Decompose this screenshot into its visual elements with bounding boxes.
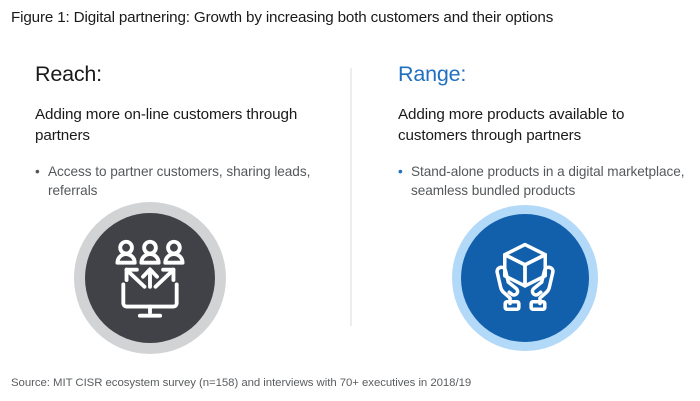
column-reach-bullet-text: Access to partner customers, sharing lea… [48,164,310,198]
range-icon-badge [452,205,598,351]
column-range-bullet: • Stand-alone products in a digital mark… [398,162,690,200]
bullet-marker-icon: • [398,162,403,181]
column-divider [350,68,352,326]
column-range: Range: Adding more products available to… [398,60,690,200]
column-reach: Reach: Adding more on-line customers thr… [35,60,335,200]
bullet-marker-icon: • [35,162,40,181]
reach-icon-badge [74,202,226,354]
people-growth-monitor-icon [104,232,196,324]
column-reach-bullet: • Access to partner customers, sharing l… [35,162,335,200]
column-reach-heading: Reach: [35,60,335,88]
reach-icon-disc [85,213,215,343]
range-icon-disc [461,214,589,342]
figure-title: Figure 1: Digital partnering: Growth by … [11,8,691,28]
column-range-bullet-text: Stand-alone products in a digital market… [411,164,685,198]
source-note: Source: MIT CISR ecosystem survey (n=158… [11,376,471,391]
column-range-heading: Range: [398,60,690,88]
figure-container: Figure 1: Digital partnering: Growth by … [0,0,700,401]
column-range-lead: Adding more products available to custom… [398,104,690,146]
column-reach-lead: Adding more on-line customers through pa… [35,104,335,146]
hands-holding-box-icon [481,234,569,322]
